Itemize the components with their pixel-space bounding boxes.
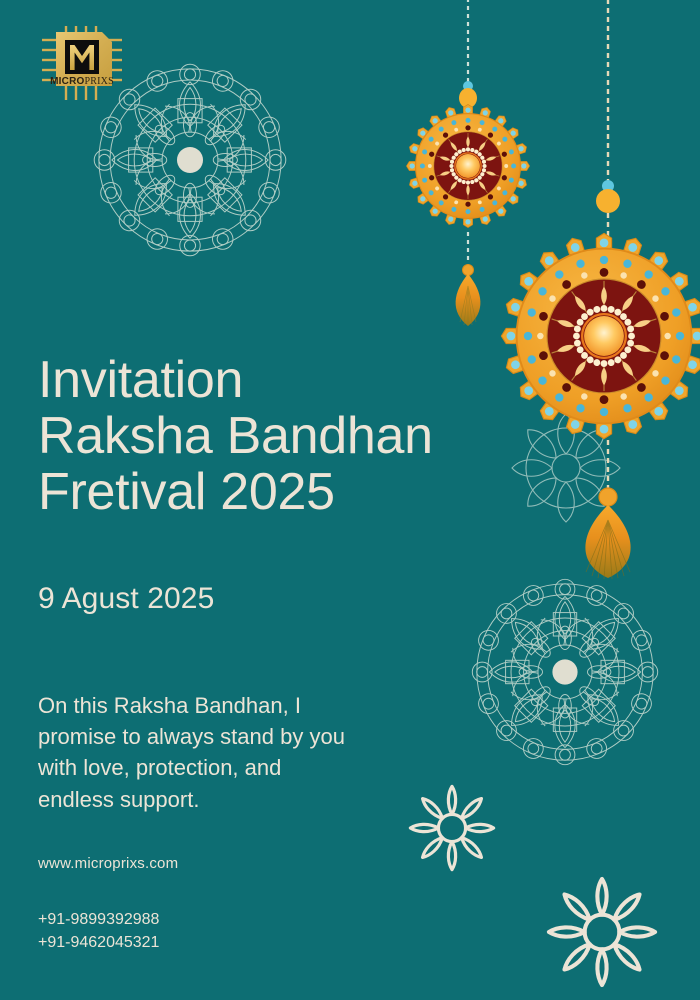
- message-line-3: with love, protection, and: [38, 752, 458, 783]
- page-title: Invitation Raksha Bandhan Fretival 2025: [38, 352, 508, 520]
- poster-canvas: MICROPRIXS Invitation Raksha Bandhan Fre…: [0, 0, 700, 1000]
- headline-line-2: Raksha Bandhan: [38, 408, 508, 464]
- logo-word-bold: MICRO: [50, 76, 84, 87]
- mandala-bottom-right: [472, 579, 657, 764]
- website-link[interactable]: www.microprixs.com: [38, 855, 178, 872]
- rakhi-ornament-small: [406, 0, 529, 326]
- message-line-2: promise to always stand by you: [38, 721, 458, 752]
- phone-numbers: +91-9899392988 +91-9462045321: [38, 908, 159, 954]
- message-line-4: endless support.: [38, 784, 458, 815]
- phone-number-1[interactable]: +91-9899392988: [38, 908, 159, 931]
- phone-number-2[interactable]: +91-9462045321: [38, 931, 159, 954]
- thin-flower-decoration: [512, 414, 620, 522]
- headline-line-1: Invitation: [38, 352, 508, 408]
- headline-line-3: Fretival 2025: [38, 464, 508, 520]
- brand-logo[interactable]: MICROPRIXS: [36, 24, 128, 104]
- flower-motif-large: [549, 879, 655, 985]
- rakhi-ornament-large: [501, 0, 700, 579]
- message-line-1: On this Raksha Bandhan, I: [38, 690, 458, 721]
- event-date: 9 Agust 2025: [38, 582, 214, 615]
- greeting-message: On this Raksha Bandhan, I promise to alw…: [38, 690, 458, 815]
- logo-wordmark: MICROPRIXS: [36, 77, 128, 87]
- logo-word-light: PRIXS: [84, 76, 113, 87]
- microchip-icon: [36, 24, 128, 104]
